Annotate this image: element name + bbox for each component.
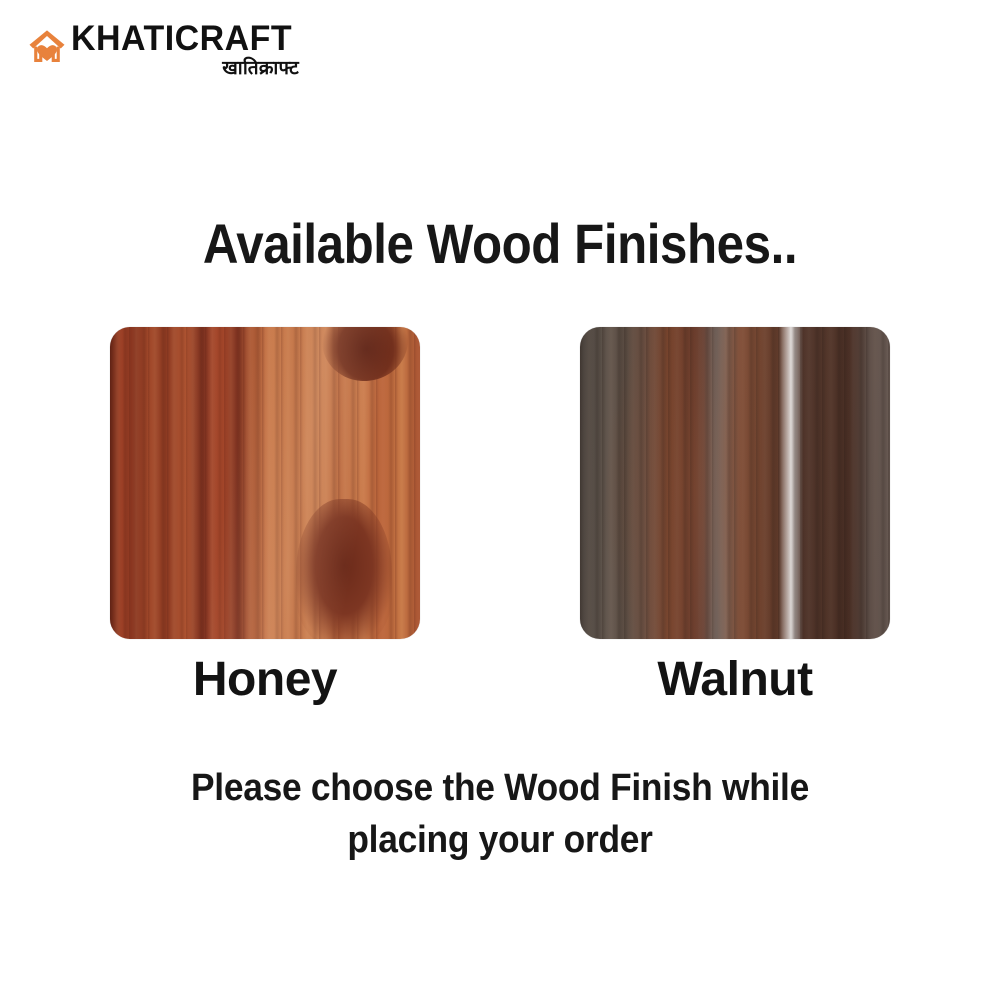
brand-name-devanagari: खातिक्राफ्ट <box>222 57 299 79</box>
house-heart-icon <box>27 26 67 66</box>
instruction-line-2: placing your order <box>35 814 965 866</box>
honey-sheen <box>110 327 420 639</box>
finish-label-honey: Honey <box>193 653 337 707</box>
finish-option-honey[interactable]: Honey <box>110 327 420 707</box>
walnut-sheen <box>580 327 890 639</box>
honey-wood-swatch[interactable] <box>110 327 420 639</box>
brand-name: KHATICRAFT <box>71 20 292 58</box>
wood-finish-infographic: KHATICRAFT खातिक्राफ्ट Available Wood Fi… <box>0 0 1000 1000</box>
brand-logo[interactable]: KHATICRAFT खातिक्राफ्ट <box>27 20 299 79</box>
walnut-wood-swatch[interactable] <box>580 327 890 639</box>
finish-option-walnut[interactable]: Walnut <box>580 327 890 707</box>
finish-label-walnut: Walnut <box>657 653 812 707</box>
instruction-text: Please choose the Wood Finish while plac… <box>0 762 1000 866</box>
instruction-line-1: Please choose the Wood Finish while <box>35 762 965 814</box>
page-title: Available Wood Finishes.. <box>60 212 940 276</box>
wood-finish-options: Honey Walnut <box>0 327 1000 707</box>
